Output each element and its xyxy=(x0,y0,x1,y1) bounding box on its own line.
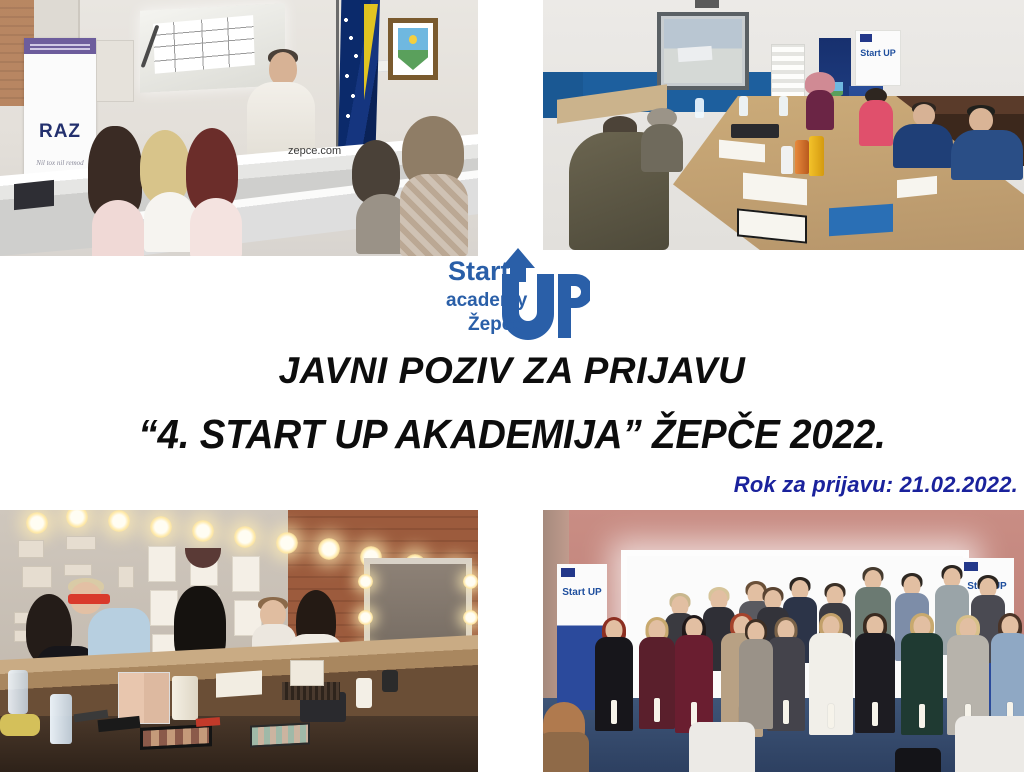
photo-top-right-workshop: Start UP xyxy=(543,0,1024,250)
photo-bottom-left-makeup-studio xyxy=(0,510,478,772)
foreground-audience-head xyxy=(543,702,589,772)
laptop xyxy=(14,180,54,210)
graduate xyxy=(809,616,853,738)
projected-floorplan xyxy=(153,15,255,74)
seated-attendee xyxy=(396,116,470,256)
seated-participant xyxy=(951,108,1023,178)
brochure-stack xyxy=(829,204,893,236)
svg-text:academy: academy xyxy=(446,290,528,311)
svg-text:Žepče: Žepče xyxy=(468,313,523,335)
graduate xyxy=(639,620,675,732)
certificate xyxy=(872,702,878,726)
stage-bag xyxy=(895,748,941,772)
eu-flag-icon xyxy=(860,34,872,42)
tissue-roll xyxy=(356,678,372,708)
start-up-academy-zepce-logo: Start academy Žepče xyxy=(440,248,590,340)
wall-cabinet xyxy=(96,40,134,102)
svg-text:Start: Start xyxy=(448,256,510,286)
application-deadline: Rok za prijavu: 21.02.2022. xyxy=(734,474,1018,496)
headline-line-2: “4. START UP AKADEMIJA” ŽEPČE 2022. xyxy=(31,414,994,455)
flip-chart xyxy=(771,44,805,102)
juice-bottle xyxy=(809,136,824,176)
raz-logo-text: RAZ xyxy=(24,122,96,141)
startup-banner-text: Start UP xyxy=(856,49,900,58)
startup-banner-text: Start UP xyxy=(557,588,607,598)
banner-header-text xyxy=(30,42,90,50)
flag-triangle xyxy=(364,4,378,100)
water-bottle xyxy=(781,146,793,174)
lipstick xyxy=(196,717,220,727)
water-bottle xyxy=(779,96,788,116)
flag-stars xyxy=(342,14,360,144)
graduate xyxy=(739,622,773,732)
raz-rollup-banner: RAZ Nil tox nil remod xyxy=(24,38,96,178)
certificate xyxy=(919,704,925,728)
makeup-brush xyxy=(97,716,140,732)
sponges xyxy=(0,714,40,736)
seated-participant xyxy=(641,108,683,168)
banner-website-text: zepce.com xyxy=(288,146,341,157)
graduate xyxy=(855,616,895,736)
photo-bottom-right-graduates: Start UP Start UP xyxy=(543,510,1024,772)
eu-flag-icon xyxy=(561,568,575,577)
certificate xyxy=(828,704,834,728)
ceiling-projector xyxy=(695,0,719,8)
graduate xyxy=(595,620,633,734)
standing-presenter xyxy=(805,72,835,128)
photo-top-left-seminar: RAZ Nil tox nil remod zepce.com xyxy=(0,0,478,256)
juice-bottle xyxy=(795,140,809,174)
water-bottle xyxy=(739,96,748,116)
laptop-closed xyxy=(731,124,779,138)
paper-sheet xyxy=(216,670,262,697)
headline-line-1: JAVNI POZIV ZA PRIJAVU xyxy=(0,352,1024,389)
chair xyxy=(689,722,755,772)
poster-canvas: RAZ Nil tox nil remod zepce.com xyxy=(0,0,1024,772)
cosmetic-bottle xyxy=(382,670,398,692)
banner-tagline: Nil tox nil remod xyxy=(24,160,96,167)
certificate xyxy=(783,700,789,724)
municipal-coat-of-arms xyxy=(388,18,438,80)
water-bottle xyxy=(695,98,704,118)
counter-items xyxy=(0,656,478,736)
seated-participant xyxy=(893,104,953,166)
seated-participant xyxy=(859,88,893,144)
graduate xyxy=(901,616,943,738)
lash-chart xyxy=(290,660,324,686)
certificate xyxy=(654,698,660,722)
chair xyxy=(955,716,1024,772)
seated-attendee xyxy=(186,128,246,254)
graduate xyxy=(675,618,713,736)
startup-rollup-banner: Start UP xyxy=(855,30,901,86)
interactive-whiteboard xyxy=(657,12,749,90)
certificate xyxy=(611,700,617,724)
